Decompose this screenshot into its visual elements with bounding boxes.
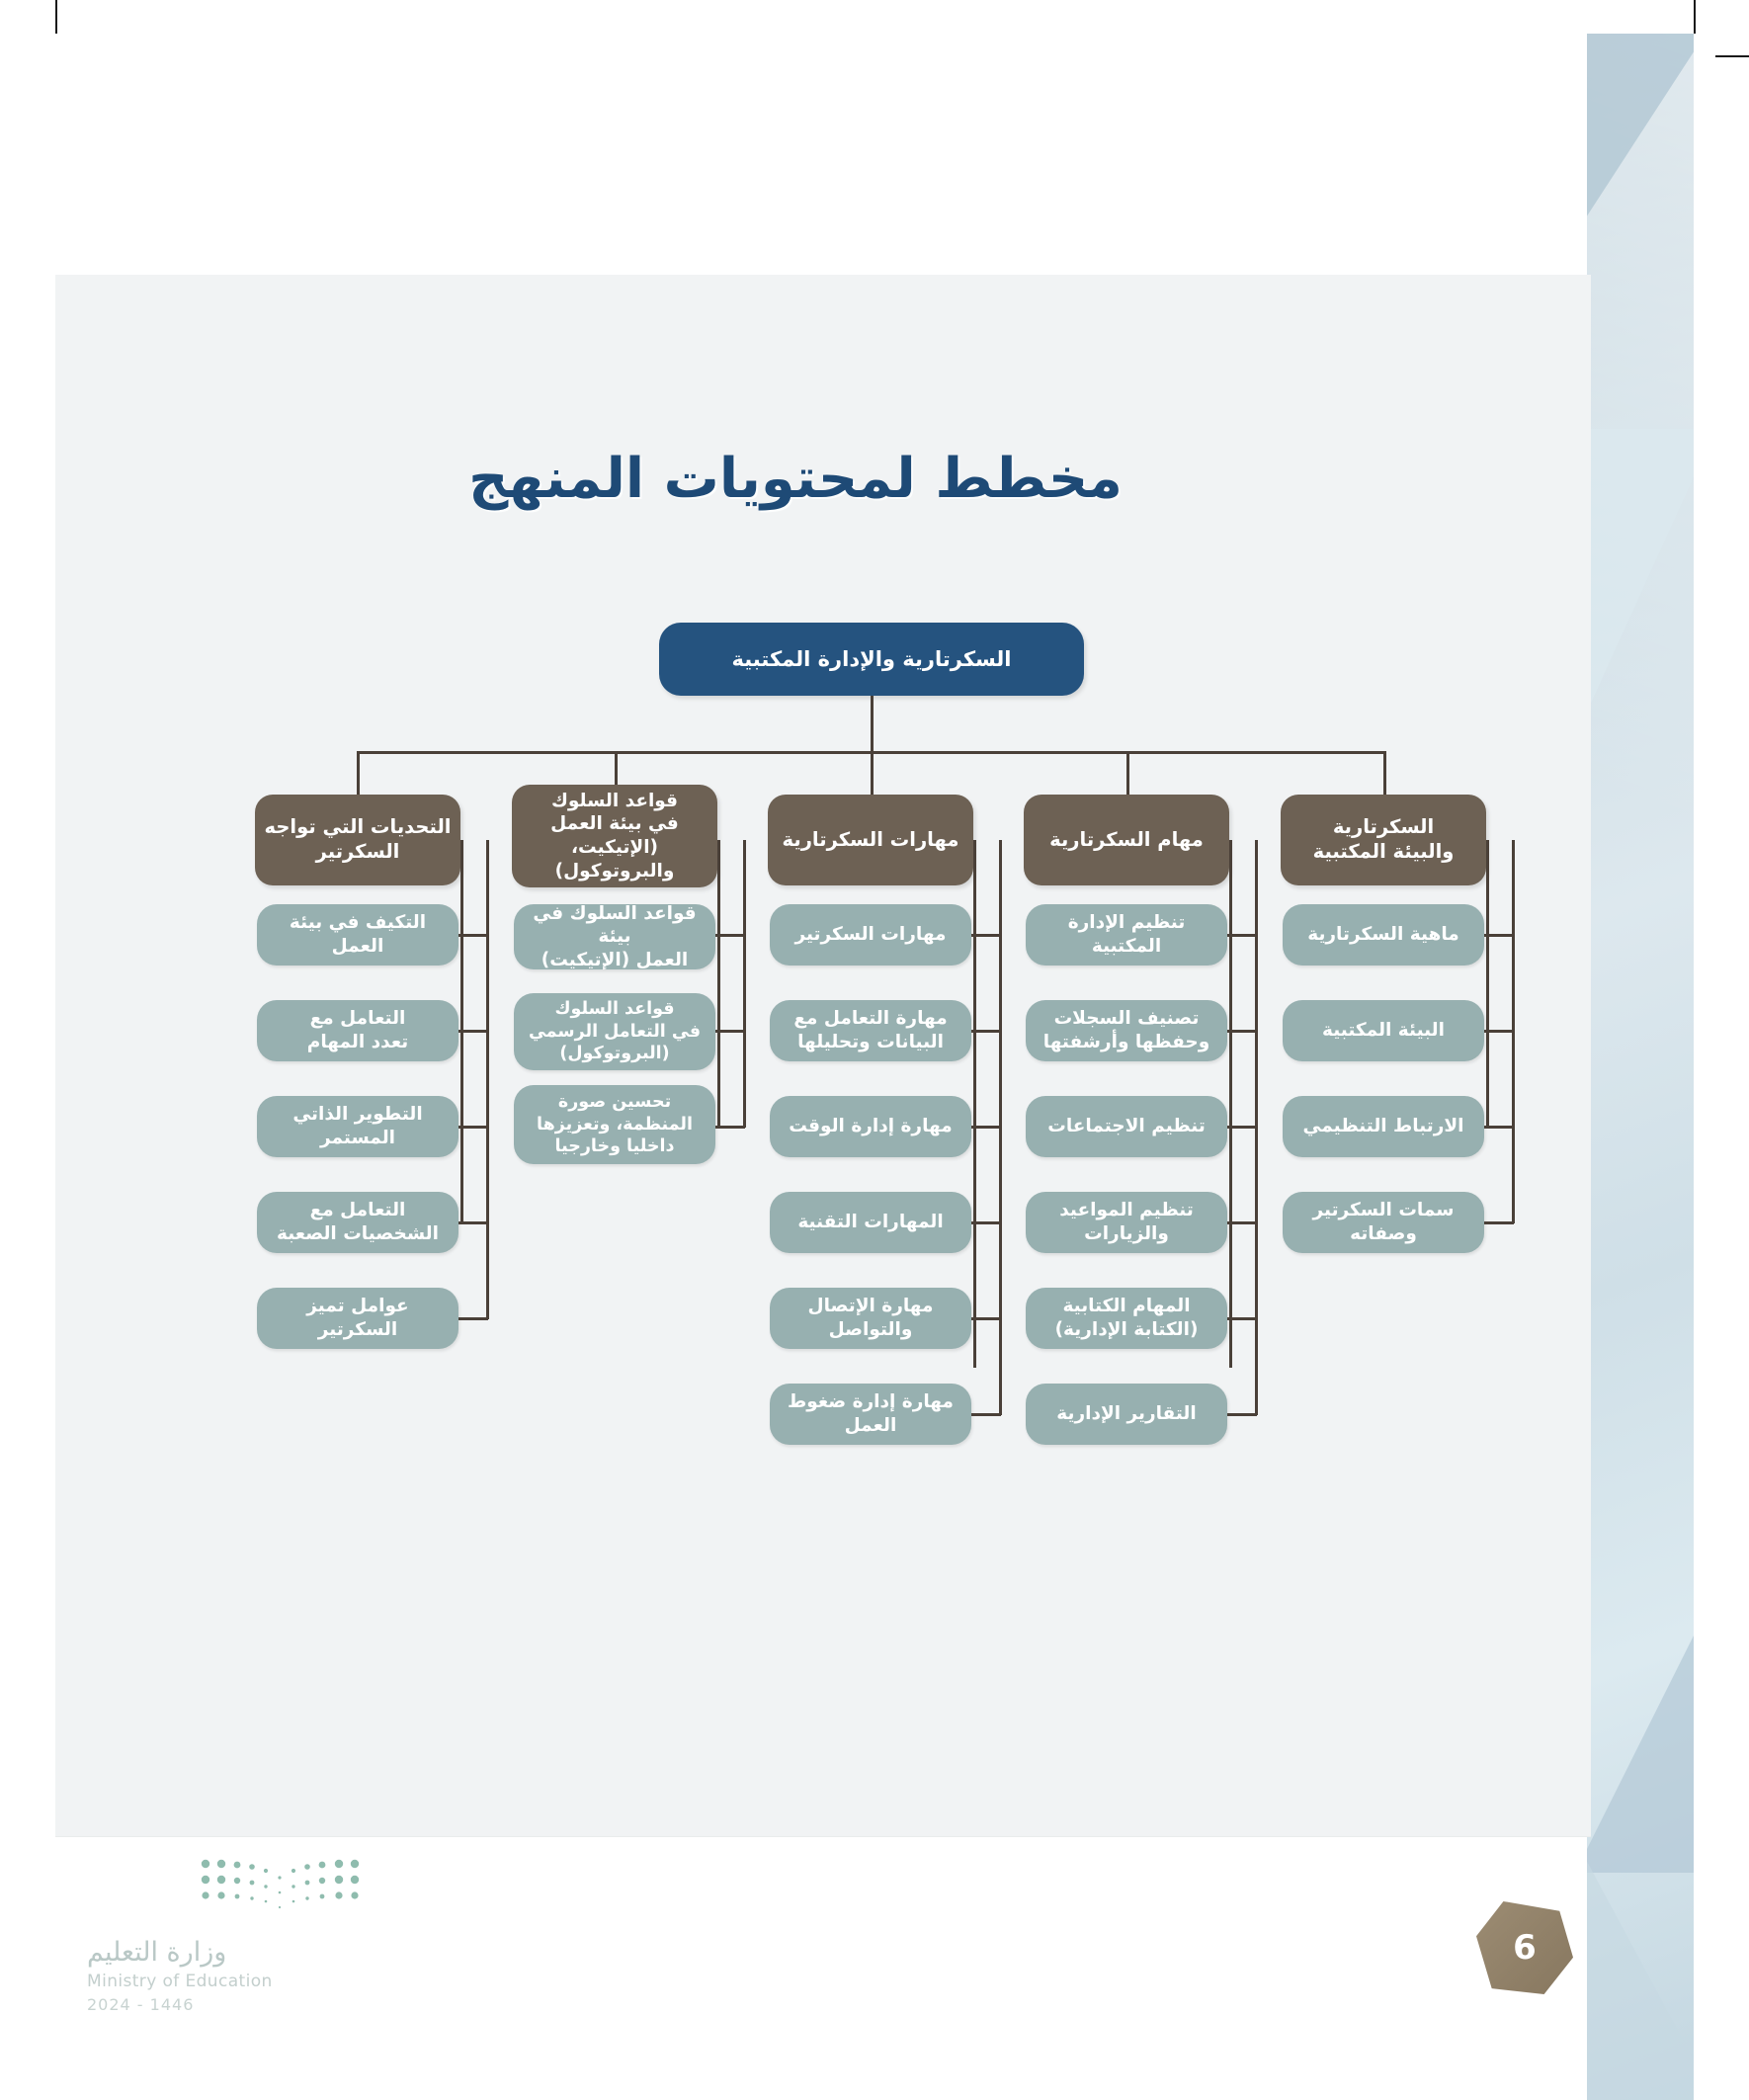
branch-5-connector-4 bbox=[458, 1221, 488, 1224]
branch-1-leaf-3: الارتباط التنظيمي bbox=[1283, 1096, 1484, 1157]
branch-2-leaf-2: تصنيف السجلات وحفظها وأرشفتها bbox=[1026, 1000, 1227, 1061]
branch-3-connector-5 bbox=[971, 1317, 1001, 1320]
branch-2-connector-3 bbox=[1227, 1126, 1257, 1129]
ministry-year: 2024 - 1446 bbox=[87, 1995, 374, 2014]
page-title: مخطط لمحتويات المنهج bbox=[0, 447, 1591, 511]
branch-2-connector-1 bbox=[1227, 934, 1257, 937]
ministry-name-arabic: وزارة التعليم bbox=[87, 1937, 374, 1968]
branch-spine-4-tail bbox=[743, 840, 746, 1128]
branch-2-leaf-1: تنظيم الإدارة المكتبية bbox=[1026, 904, 1227, 966]
branch-spine-3 bbox=[973, 840, 976, 1368]
branch-spine-5-tail bbox=[486, 840, 489, 1319]
branch-3-connector-4 bbox=[971, 1221, 1001, 1224]
branch-4-connector-2 bbox=[715, 1030, 745, 1033]
branch-5-connector-3 bbox=[458, 1126, 488, 1129]
branch-5-leaf-5: عوامل تميز السكرتير bbox=[257, 1288, 458, 1349]
ministry-name-english: Ministry of Education bbox=[87, 1972, 374, 1991]
connector-root-stem bbox=[871, 696, 874, 753]
branch-spine-2 bbox=[1229, 840, 1232, 1368]
branch-1-connector-2 bbox=[1484, 1030, 1514, 1033]
branch-5-leaf-2: التعامل مع تعدد المهام bbox=[257, 1000, 458, 1061]
connector-branch-drop-2 bbox=[1126, 751, 1129, 795]
branch-5-connector-2 bbox=[458, 1030, 488, 1033]
connector-branch-drop-3 bbox=[871, 751, 874, 795]
branch-3-connector-1 bbox=[971, 934, 1001, 937]
branch-spine-1 bbox=[1486, 840, 1489, 1129]
branch-spine-3-tail bbox=[999, 840, 1002, 1415]
branch-header-3: مهارات السكرتارية bbox=[768, 795, 973, 885]
branch-header-2: مهام السكرتارية bbox=[1024, 795, 1229, 885]
branch-3-leaf-1: مهارات السكرتير bbox=[770, 904, 971, 966]
branch-4-connector-3 bbox=[715, 1126, 745, 1129]
branch-header-4: قواعد السلوك في بيئة العمل (الإتيكيت، وا… bbox=[512, 785, 717, 887]
document-page: مخطط لمحتويات المنهج السكرتارية والإدارة… bbox=[0, 0, 1749, 2100]
branch-2-connector-4 bbox=[1227, 1221, 1257, 1224]
branch-2-leaf-3: تنظيم الاجتماعات bbox=[1026, 1096, 1227, 1157]
crop-mark-top-right-horizontal bbox=[1715, 55, 1749, 57]
decorative-triangle-d bbox=[1587, 1843, 1694, 2100]
branch-3-leaf-6: مهارة إدارة ضغوط العمل bbox=[770, 1384, 971, 1445]
branch-3-leaf-2: مهارة التعامل مع البيانات وتحليلها bbox=[770, 1000, 971, 1061]
branch-spine-5 bbox=[460, 840, 463, 1224]
crop-mark-top-right-vertical bbox=[1694, 0, 1696, 34]
branch-spine-4 bbox=[717, 840, 720, 1129]
branch-3-leaf-3: مهارة إدارة الوقت bbox=[770, 1096, 971, 1157]
branch-4-leaf-2: قواعد السلوك في التعامل الرسمي (البروتوك… bbox=[514, 993, 715, 1070]
branch-2-leaf-5: المهام الكتابية (الكتابة الإدارية) bbox=[1026, 1288, 1227, 1349]
decorative-triangle-c bbox=[1587, 1576, 1694, 1873]
branch-spine-2-tail bbox=[1255, 840, 1258, 1415]
branch-header-5: التحديات التي تواجه السكرتير bbox=[255, 795, 460, 885]
branch-5-leaf-4: التعامل مع الشخصيات الصعبة bbox=[257, 1192, 458, 1253]
branch-1-leaf-4: سمات السكرتير وصفاته bbox=[1283, 1192, 1484, 1253]
branch-3-leaf-4: المهارات التقنية bbox=[770, 1192, 971, 1253]
branch-4-leaf-3: تحسين صورة المنظمة، وتعزيزها داخليا وخار… bbox=[514, 1085, 715, 1164]
org-chart: السكرتارية والإدارة المكتبية السكرتارية … bbox=[0, 623, 1749, 1235]
ministry-logo: وزارة التعليم Ministry of Education 2024… bbox=[87, 1856, 374, 2014]
branch-2-leaf-6: التقارير الإدارية bbox=[1026, 1384, 1227, 1445]
branch-5-leaf-1: التكيف في بيئة العمل bbox=[257, 904, 458, 966]
branch-2-leaf-4: تنظيم المواعيد والزيارات bbox=[1026, 1192, 1227, 1253]
branch-3-connector-3 bbox=[971, 1126, 1001, 1129]
chart-root-node: السكرتارية والإدارة المكتبية bbox=[659, 623, 1084, 696]
branch-5-connector-5 bbox=[458, 1317, 488, 1320]
branch-1-leaf-1: ماهية السكرتارية bbox=[1283, 904, 1484, 966]
branch-3-connector-6 bbox=[971, 1413, 1001, 1416]
branch-1-connector-3 bbox=[1484, 1126, 1514, 1129]
branch-4-connector-1 bbox=[715, 934, 745, 937]
branch-1-leaf-2: البيئة المكتبية bbox=[1283, 1000, 1484, 1061]
branch-5-leaf-3: التطوير الذاتي المستمر bbox=[257, 1096, 458, 1157]
branch-1-connector-1 bbox=[1484, 934, 1514, 937]
footer-divider bbox=[55, 1836, 1591, 1837]
branch-header-1: السكرتارية والبيئة المكتبية bbox=[1281, 795, 1486, 885]
branch-2-connector-2 bbox=[1227, 1030, 1257, 1033]
branch-3-leaf-5: مهارة الإتصال والتواصل bbox=[770, 1288, 971, 1349]
saudi-palm-dots-icon bbox=[196, 1856, 374, 1917]
branch-3-connector-2 bbox=[971, 1030, 1001, 1033]
crop-mark-top-left bbox=[55, 0, 57, 34]
branch-1-connector-4 bbox=[1484, 1221, 1514, 1224]
decorative-triangle-a bbox=[1587, 34, 1694, 231]
branch-2-connector-6 bbox=[1227, 1413, 1257, 1416]
connector-branch-drop-1 bbox=[1383, 751, 1386, 795]
branch-spine-1-tail bbox=[1512, 840, 1515, 1223]
branch-4-leaf-1: قواعد السلوك في بيئة العمل (الإتيكيت) bbox=[514, 904, 715, 969]
branch-2-connector-5 bbox=[1227, 1317, 1257, 1320]
page-number-badge: 6 bbox=[1476, 1899, 1573, 1996]
connector-branch-drop-5 bbox=[357, 751, 360, 795]
branch-5-connector-1 bbox=[458, 934, 488, 937]
